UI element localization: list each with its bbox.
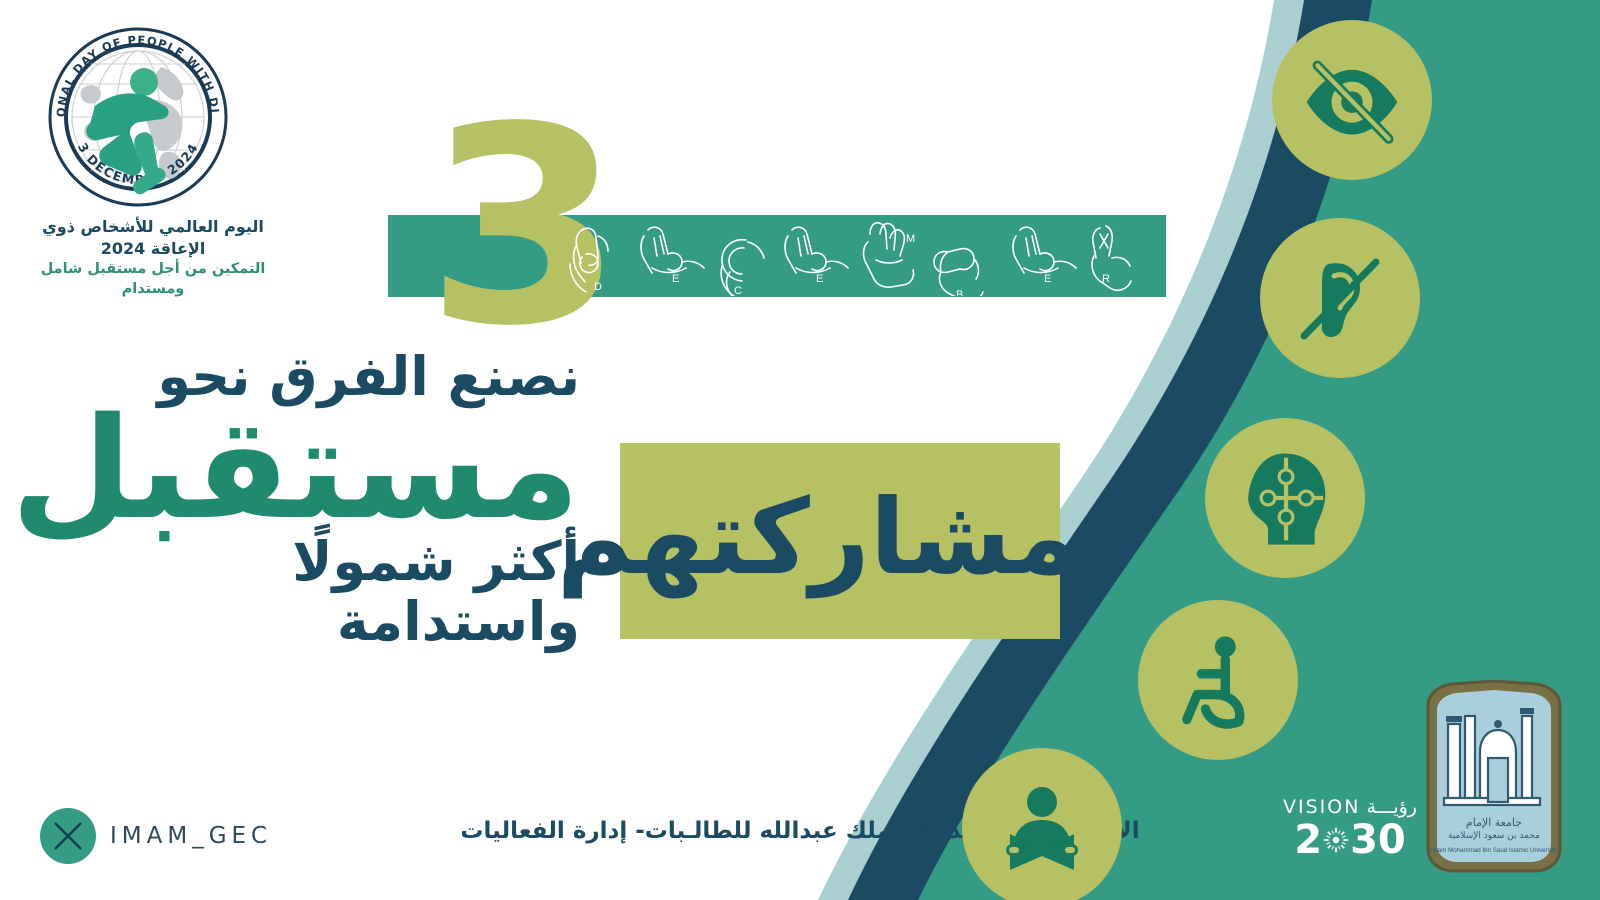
idpd-emblem: INTERNATIONAL DAY OF PEOPLE WITH DISABIL… — [28, 22, 278, 300]
idpd-emblem-graphic: INTERNATIONAL DAY OF PEOPLE WITH DISABIL… — [43, 22, 263, 212]
cognitive-disability-icon — [1205, 418, 1365, 578]
gec-mark-icon — [40, 808, 96, 864]
emblem-caption-line2: التمكين من أجل مستقبل شامل ومستدام — [28, 259, 278, 300]
vision-word-en: VISION — [1283, 798, 1360, 817]
gec-logo: IMAM_GEC — [40, 808, 272, 864]
emblem-caption-line1: اليوم العالمي للأشخاص ذوي الإعاقة 2024 — [28, 216, 278, 259]
day-numeral-3: 3 — [425, 92, 624, 364]
headline-line2: مستقبل — [60, 400, 580, 540]
highlight-box: بمشاركتهم — [620, 443, 1060, 639]
hearing-impairment-icon — [1260, 218, 1420, 378]
vision-palm-emblem-icon — [1323, 827, 1349, 853]
vision-impairment-icon — [1272, 20, 1432, 180]
vision-2030-logo: VISION رؤيـــة 2 — [1285, 798, 1415, 860]
svg-text:محمد بن سعود الإسلامية: محمد بن سعود الإسلامية — [1448, 831, 1540, 841]
headline-block: نصنع الفرق نحو مستقبل أكثر شمولًا واستدا… — [60, 348, 580, 651]
highlight-box-text: بمشاركتهم — [557, 485, 1124, 589]
mobility-disability-icon — [1138, 600, 1298, 760]
gec-label: IMAM_GEC — [110, 823, 272, 849]
emblem-caption: اليوم العالمي للأشخاص ذوي الإعاقة 2024 ا… — [28, 216, 278, 300]
university-arabic-name: جامعة الإمام — [1466, 816, 1522, 829]
vision-year-right: 30 — [1350, 820, 1406, 860]
reading-learning-icon — [962, 748, 1122, 900]
university-logo: جامعة الإمام محمد بن سعود الإسلامية Imam… — [1418, 680, 1570, 876]
university-english-name: Imam Mohammad Ibn Saud Islamic Universit… — [1431, 847, 1558, 854]
vision-word-ar: رؤيـــة — [1366, 798, 1417, 817]
poster-canvas: INTERNATIONAL DAY OF PEOPLE WITH DISABIL… — [0, 0, 1600, 900]
vision-year-left: 2 — [1294, 820, 1322, 860]
